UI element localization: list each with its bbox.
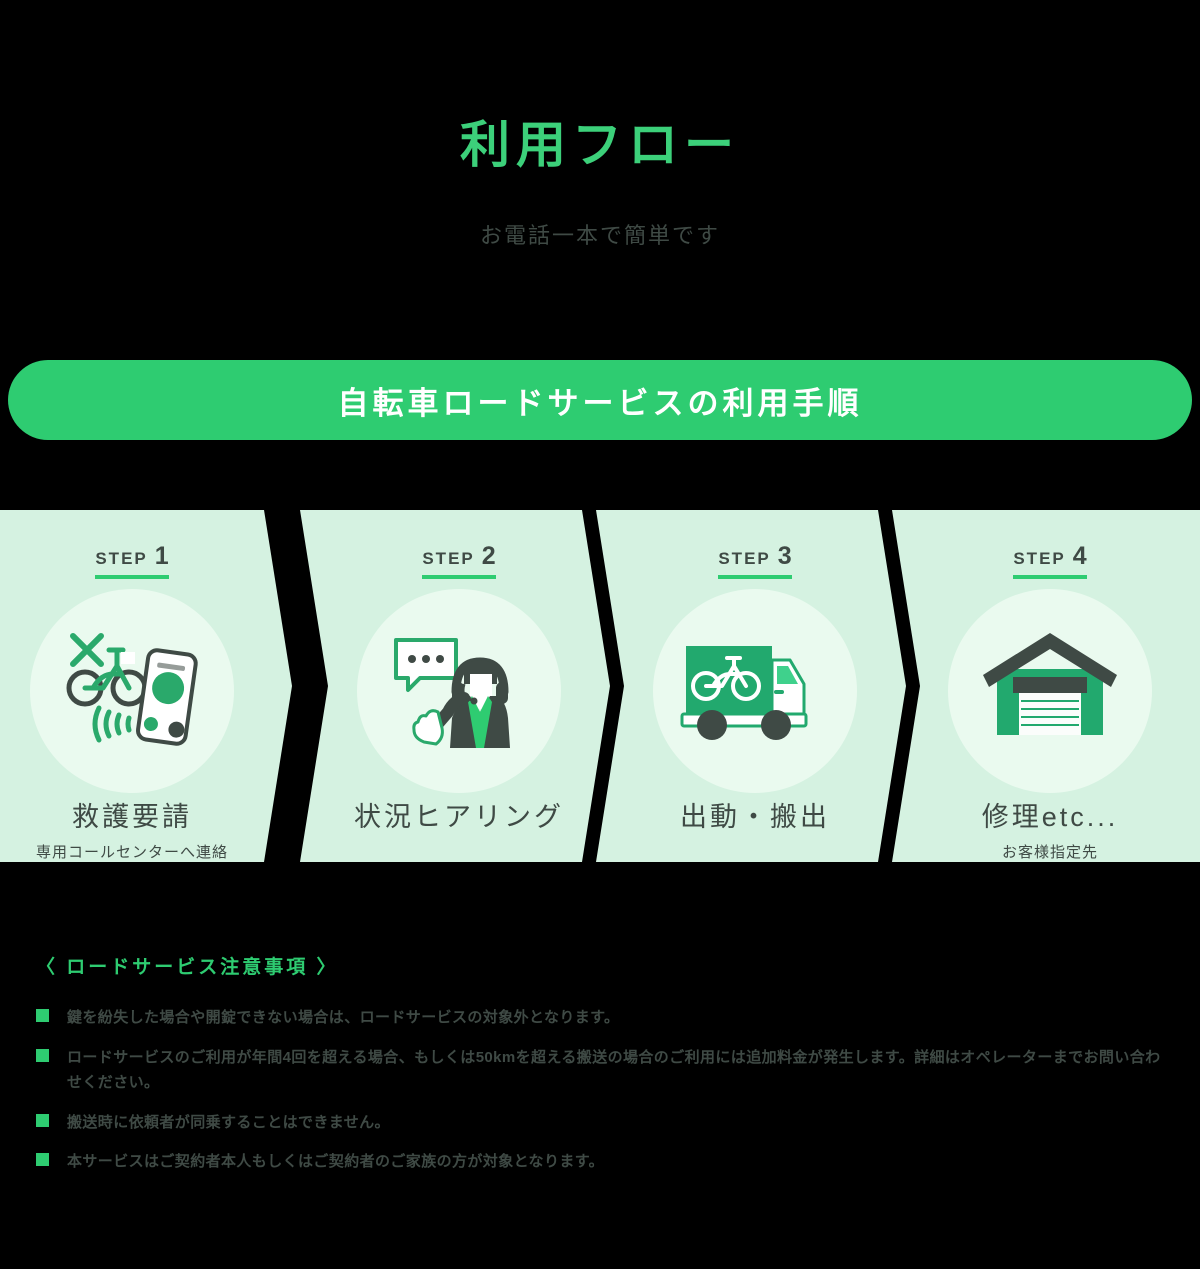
step-3-label: STEP 3 bbox=[718, 544, 791, 579]
square-bullet-icon bbox=[36, 1049, 49, 1062]
step-2-icon-circle bbox=[357, 589, 561, 793]
note-text: 搬送時に依頼者が同乗することはできません。 bbox=[67, 1110, 390, 1136]
step-card-4-content: STEP 4 bbox=[920, 510, 1180, 862]
notes-section: 〈 ロードサービス注意事項 〉 鍵を紛失した場合や開錠できない場合は、ロードサー… bbox=[36, 952, 1166, 1189]
usage-flow-page: 利用フロー お電話一本で簡単です 自転車ロードサービスの利用手順 STEP 1 bbox=[0, 0, 1200, 1269]
step-2-label: STEP 2 bbox=[422, 544, 495, 579]
banner-label: 自転車ロードサービスの利用手順 bbox=[338, 378, 863, 423]
note-item: 本サービスはご契約者本人もしくはご契約者のご家族の方が対象となります。 bbox=[36, 1149, 1166, 1175]
bicycle-breakdown-phone-call-icon bbox=[57, 626, 207, 756]
step-4-icon-circle bbox=[948, 589, 1152, 793]
note-item: ロードサービスのご利用が年間4回を超える場合、もしくは50kmを超える搬送の場合… bbox=[36, 1045, 1166, 1096]
step-3-icon-circle bbox=[653, 589, 857, 793]
note-item: 鍵を紛失した場合や開錠できない場合は、ロードサービスの対象外となります。 bbox=[36, 1005, 1166, 1031]
service-procedure-banner: 自転車ロードサービスの利用手順 bbox=[8, 360, 1192, 440]
step-card-2: STEP 2 bbox=[300, 510, 610, 862]
step-1-label-word: STEP bbox=[95, 550, 147, 567]
square-bullet-icon bbox=[36, 1114, 49, 1127]
step-1-description: 専用コールセンターへ連絡 bbox=[36, 841, 228, 862]
step-4-description: お客様指定先 bbox=[1002, 841, 1098, 862]
note-text: ロードサービスのご利用が年間4回を超える場合、もしくは50kmを超える搬送の場合… bbox=[67, 1045, 1166, 1096]
step-2-number: 2 bbox=[482, 544, 496, 569]
note-text: 本サービスはご契約者本人もしくはご契約者のご家族の方が対象となります。 bbox=[67, 1149, 604, 1175]
step-3-label-word: STEP bbox=[718, 550, 770, 567]
step-4-number: 4 bbox=[1073, 544, 1087, 569]
garage-repair-shop-icon bbox=[975, 631, 1125, 751]
square-bullet-icon bbox=[36, 1153, 49, 1166]
step-card-3-content: STEP 3 bbox=[624, 510, 886, 862]
step-4-label-word: STEP bbox=[1013, 550, 1065, 567]
square-bullet-icon bbox=[36, 1009, 49, 1022]
step-card-1: STEP 1 bbox=[0, 510, 292, 862]
step-1-icon-circle bbox=[30, 589, 234, 793]
step-1-title: 救護要請 bbox=[72, 803, 192, 833]
step-3-number: 3 bbox=[778, 544, 792, 569]
step-4-label: STEP 4 bbox=[1013, 544, 1086, 579]
notes-heading: 〈 ロードサービス注意事項 〉 bbox=[36, 952, 1166, 979]
step-card-1-content: STEP 1 bbox=[0, 510, 264, 862]
step-2-title: 状況ヒアリング bbox=[354, 803, 564, 833]
step-1-number: 1 bbox=[155, 544, 169, 569]
step-card-4: STEP 4 bbox=[892, 510, 1200, 862]
step-1-label: STEP 1 bbox=[95, 544, 168, 579]
step-card-2-content: STEP 2 bbox=[328, 510, 590, 862]
call-center-operator-icon bbox=[384, 626, 534, 756]
step-4-title: 修理etc... bbox=[982, 803, 1119, 833]
step-3-title: 出動・搬出 bbox=[680, 803, 830, 833]
step-2-label-word: STEP bbox=[422, 550, 474, 567]
step-card-3: STEP 3 bbox=[596, 510, 906, 862]
page-title: 利用フロー bbox=[0, 118, 1200, 173]
steps-row: STEP 1 bbox=[0, 510, 1200, 862]
note-text: 鍵を紛失した場合や開錠できない場合は、ロードサービスの対象外となります。 bbox=[67, 1005, 619, 1031]
page-subtitle: お電話一本で簡単です bbox=[0, 218, 1200, 250]
note-item: 搬送時に依頼者が同乗することはできません。 bbox=[36, 1110, 1166, 1136]
bicycle-transport-truck-icon bbox=[680, 636, 830, 746]
